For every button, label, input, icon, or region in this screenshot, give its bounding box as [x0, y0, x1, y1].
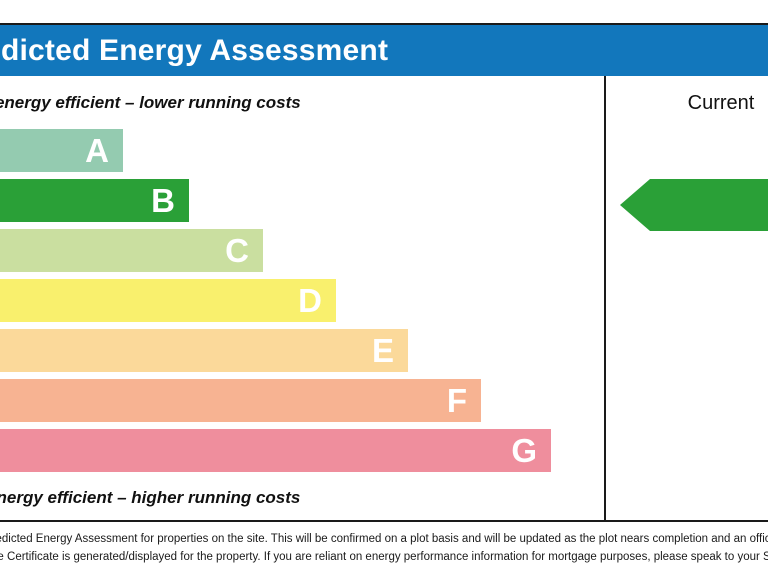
band-row-b: B [0, 176, 604, 226]
band-bar-b: B [0, 179, 189, 222]
footer-disclaimer: This is a Predicted Energy Assessment fo… [0, 522, 768, 567]
band-bar-g: G [0, 429, 551, 472]
band-letter-f: F [447, 384, 467, 417]
band-bar-e: E [0, 329, 408, 372]
band-letter-g: G [511, 434, 537, 467]
band-letter-b: B [151, 184, 175, 217]
current-rating-arrow: B [620, 179, 768, 231]
band-row-d: D [0, 276, 604, 326]
band-bar-a: A [0, 129, 123, 172]
band-row-c: C [0, 226, 604, 276]
top-margin [0, 0, 768, 23]
band-letter-d: D [298, 284, 322, 317]
caption-efficient: Very energy efficient – lower running co… [0, 93, 301, 113]
band-bars: A B C D [0, 126, 604, 476]
caption-inefficient: Not energy efficient – higher running co… [0, 488, 300, 508]
header-bar: Predicted Energy Assessment [0, 23, 768, 76]
current-column-header: Current [606, 92, 768, 115]
band-row-f: F [0, 376, 604, 426]
band-row-a: A [0, 126, 604, 176]
energy-assessment-document: Predicted Energy Assessment Very energy … [0, 0, 768, 576]
current-rating-pane: Current B [606, 76, 768, 520]
footer-line-2: Performance Certificate is generated/dis… [0, 549, 768, 567]
band-row-e: E [0, 326, 604, 376]
band-bar-d: D [0, 279, 336, 322]
efficiency-scale-pane: Very energy efficient – lower running co… [0, 76, 606, 520]
footer-line-1: This is a Predicted Energy Assessment fo… [0, 531, 768, 549]
band-letter-a: A [85, 134, 109, 167]
page-title: Predicted Energy Assessment [0, 34, 388, 68]
band-bar-f: F [0, 379, 481, 422]
band-row-g: G [0, 426, 604, 476]
band-letter-e: E [372, 334, 394, 367]
energy-rating-chart: Very energy efficient – lower running co… [0, 76, 768, 522]
band-bar-c: C [0, 229, 263, 272]
band-letter-c: C [225, 234, 249, 267]
